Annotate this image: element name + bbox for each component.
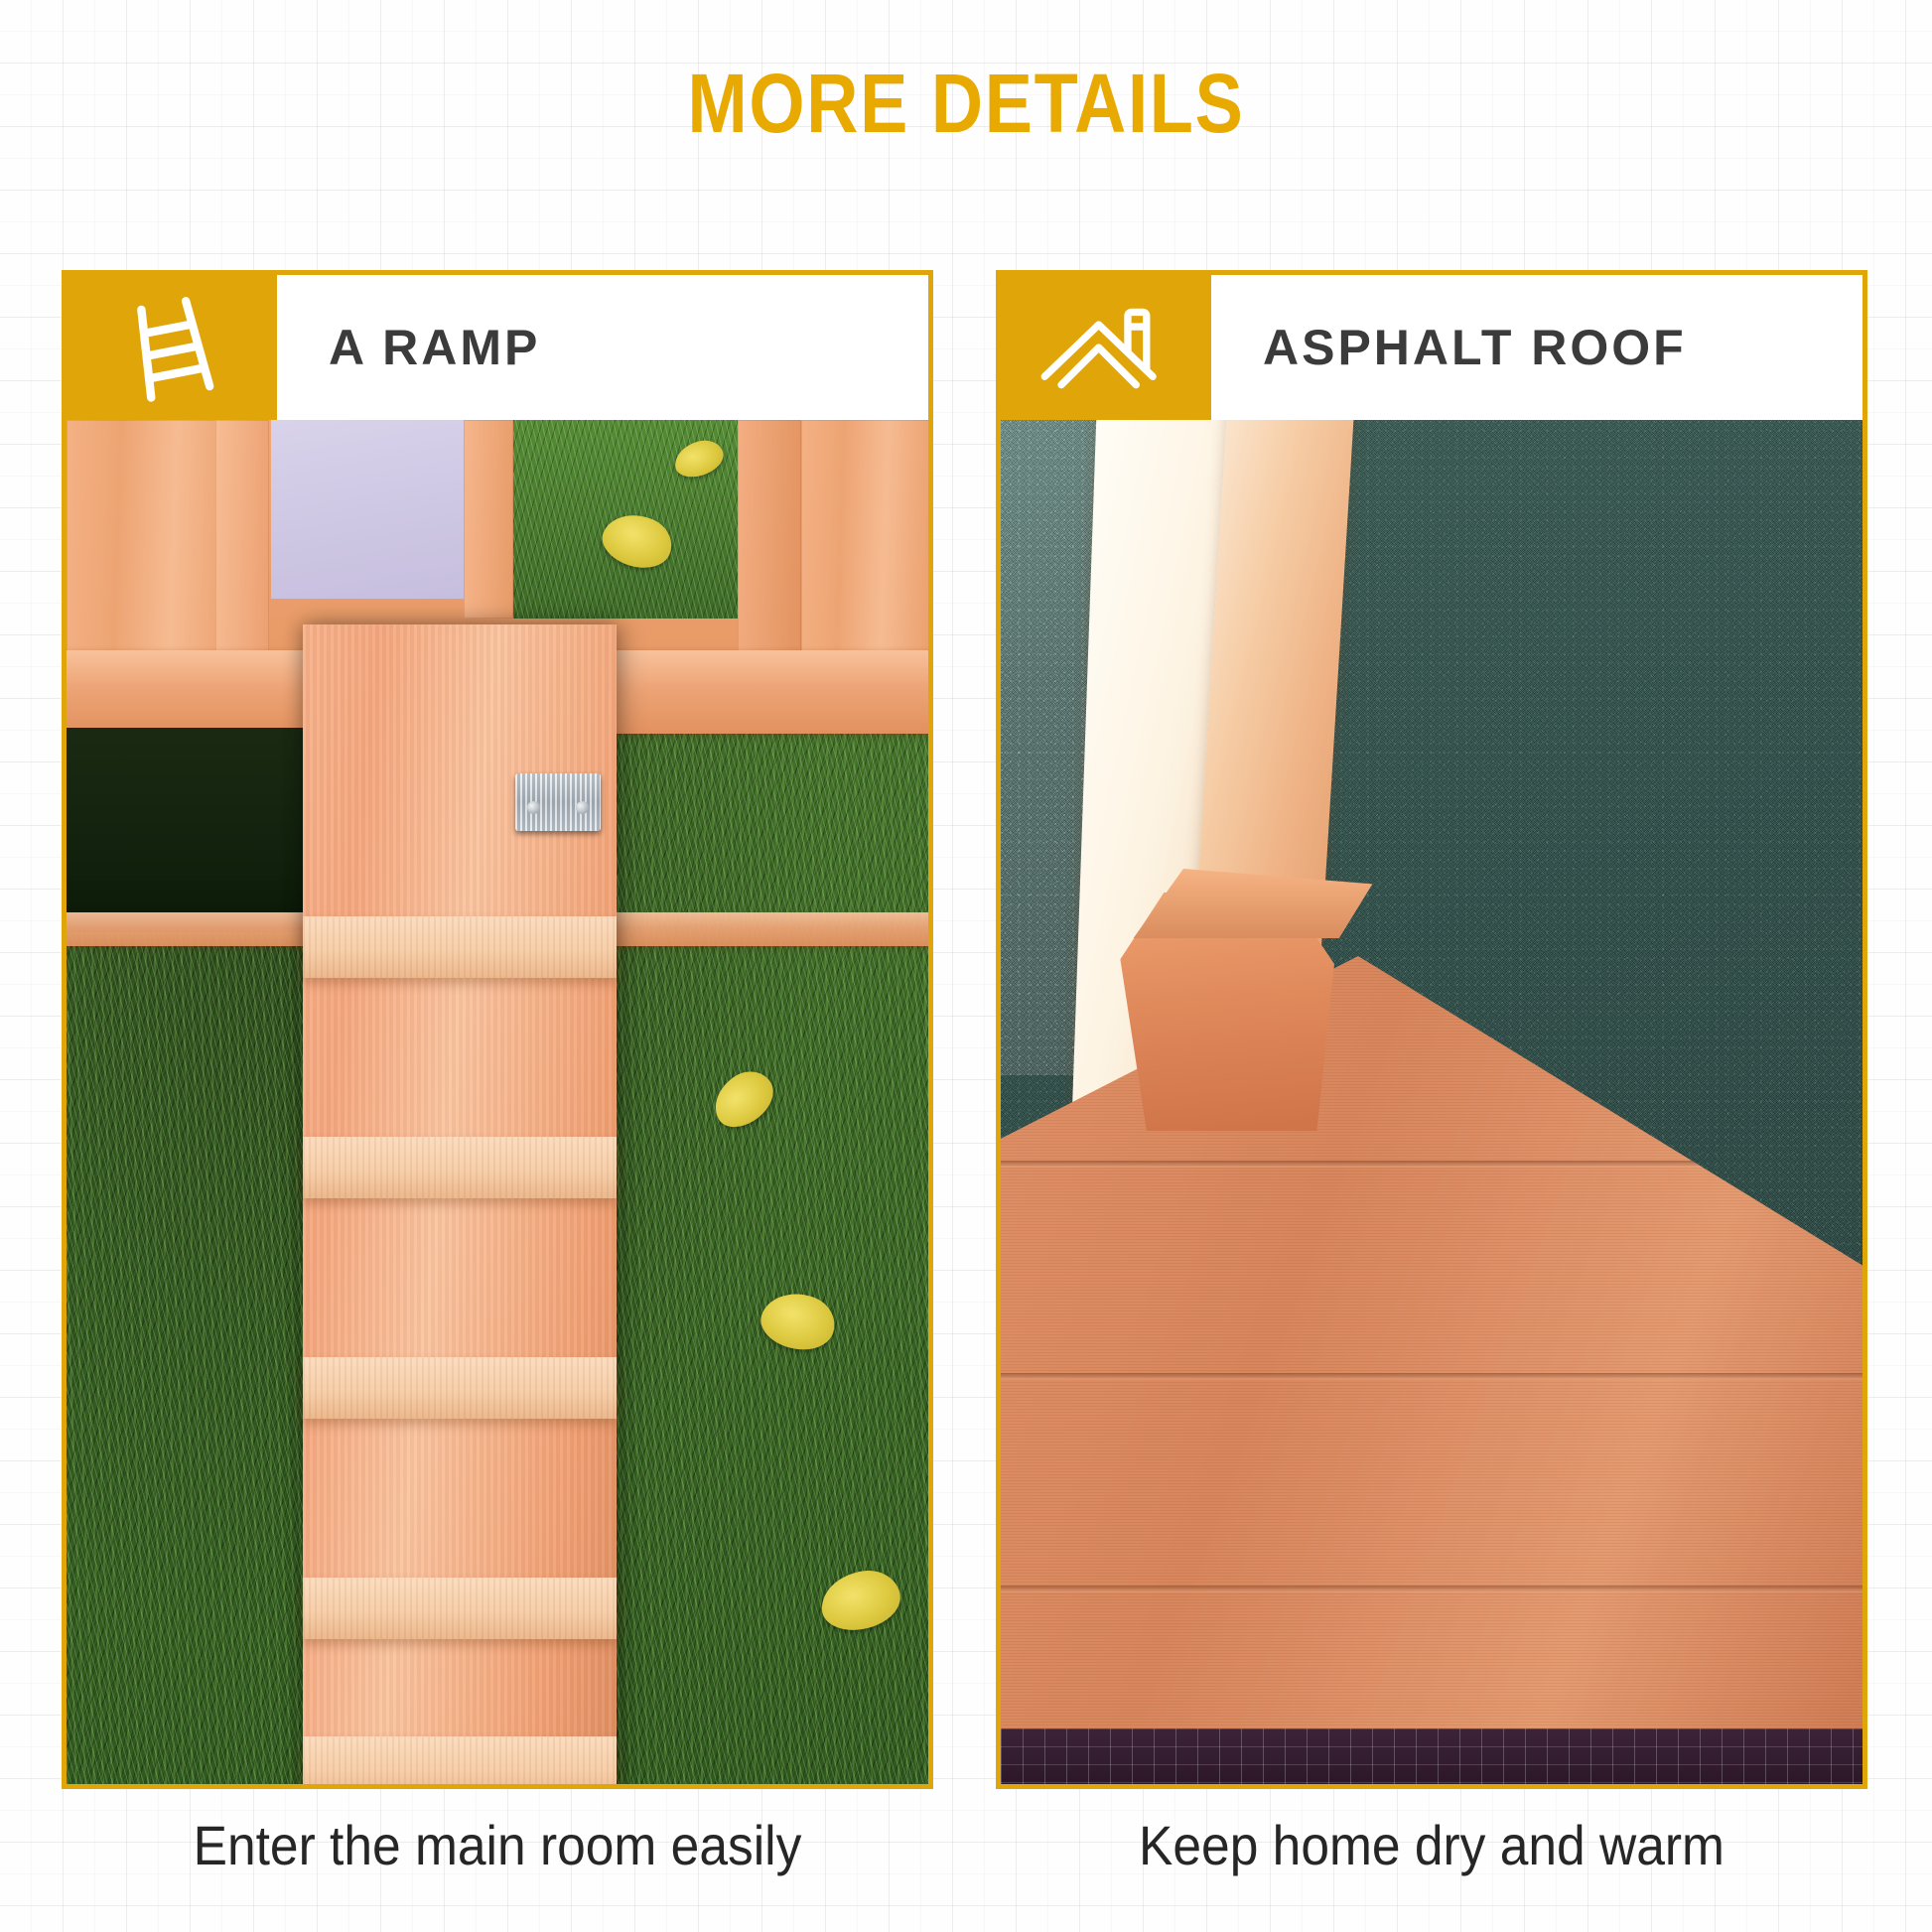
metal-hinge: [515, 773, 601, 831]
panel-header-ramp: A RAMP: [67, 275, 928, 420]
wall-plank-seam: [1001, 1373, 1863, 1380]
detail-panel-asphalt-roof: ASPHALT ROOF: [996, 270, 1867, 1789]
detail-panel-ramp: A RAMP: [62, 270, 933, 1789]
panel-caption-ramp: Enter the main room easily: [96, 1813, 898, 1877]
panel-photo-asphalt-roof: [1001, 420, 1863, 1786]
ramp-rung: [303, 1357, 617, 1419]
panel-heading-asphalt-roof: ASPHALT ROOF: [1211, 275, 1863, 420]
ladder-icon: [67, 275, 277, 420]
wall-plank-seam: [1001, 1586, 1863, 1592]
panel-header-asphalt-roof: ASPHALT ROOF: [1001, 275, 1863, 420]
coop-post-right: [738, 420, 801, 656]
coop-right-panel: [801, 420, 928, 656]
coop-post-mid: [464, 420, 513, 619]
ramp-rung: [303, 916, 617, 978]
ramp-rung: [303, 1137, 617, 1198]
panel-heading-ramp: A RAMP: [277, 275, 928, 420]
coop-door-opening: [271, 420, 470, 599]
wire-mesh-strip: [1001, 1728, 1863, 1786]
ramp-rung: [303, 1578, 617, 1639]
roof-with-chimney-icon: [1001, 275, 1211, 420]
page-title: MORE DETAILS: [135, 60, 1797, 147]
panel-photo-ramp: [67, 420, 928, 1786]
coop-post-left: [215, 420, 269, 656]
ramp-rung: [303, 1736, 617, 1786]
panel-caption-asphalt-roof: Keep home dry and warm: [1031, 1813, 1833, 1877]
